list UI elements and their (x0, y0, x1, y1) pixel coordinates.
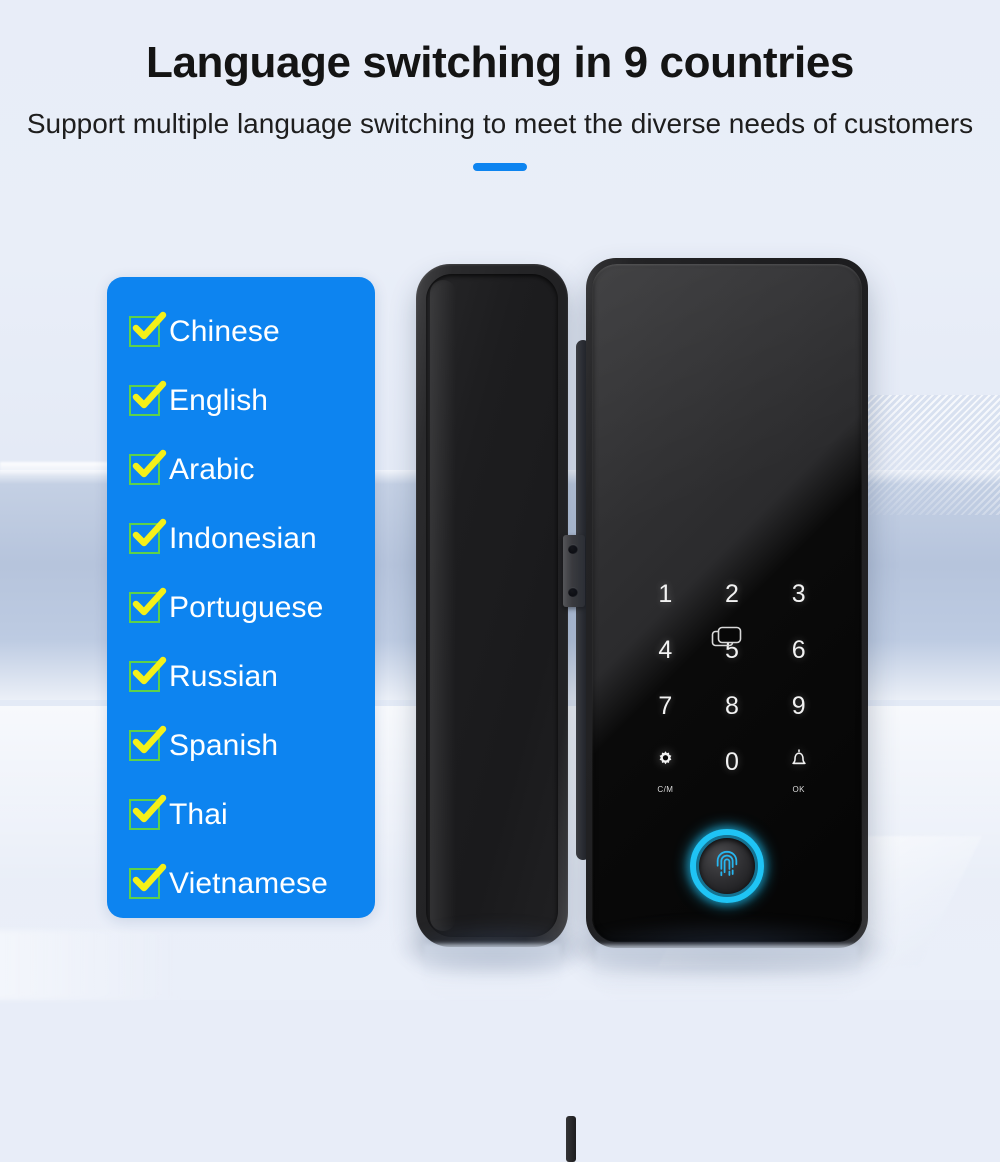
page-subtitle: Support multiple language switching to m… (0, 106, 1000, 143)
lock-back-plate (416, 264, 568, 947)
key-label: 0 (725, 748, 739, 777)
language-label: Portuguese (169, 591, 323, 625)
lock-glass-panel: 1 2 3 4 5 6 7 8 9 C/M (592, 264, 862, 942)
touch-keypad[interactable]: 1 2 3 4 5 6 7 8 9 C/M (632, 566, 832, 790)
hinge-screw-hole (568, 544, 578, 554)
language-label: Vietnamese (169, 867, 328, 901)
language-row[interactable]: Thai (129, 780, 375, 849)
checkbox-checked-icon[interactable] (129, 868, 160, 899)
key-label: 8 (725, 692, 739, 721)
lock-body-reflection (596, 945, 858, 1001)
language-row[interactable]: Vietnamese (129, 849, 375, 918)
hinge-plate (563, 535, 585, 607)
accent-bar-divider (473, 163, 527, 171)
language-row[interactable]: Portuguese (129, 573, 375, 642)
language-row[interactable]: Chinese (129, 297, 375, 366)
checkbox-checked-icon[interactable] (129, 592, 160, 623)
checkbox-checked-icon[interactable] (129, 316, 160, 347)
language-label: Indonesian (169, 522, 317, 556)
keypad-key-0[interactable]: 0 (699, 734, 766, 790)
keypad-key-6[interactable]: 6 (765, 622, 832, 678)
checkbox-checked-icon[interactable] (129, 454, 160, 485)
header-block: Language switching in 9 countries Suppor… (0, 0, 1000, 171)
key-label: 6 (792, 636, 806, 665)
key-label: 1 (658, 580, 672, 609)
checkbox-checked-icon[interactable] (129, 385, 160, 416)
keypad-key-settings[interactable]: C/M (632, 734, 699, 790)
bell-icon (789, 748, 809, 777)
keypad-key-7[interactable]: 7 (632, 678, 699, 734)
key-sublabel: C/M (657, 785, 673, 794)
keypad-key-4[interactable]: 4 (632, 622, 699, 678)
language-label: Russian (169, 660, 278, 694)
language-label: English (169, 384, 268, 418)
keypad-key-9[interactable]: 9 (765, 678, 832, 734)
fingerprint-icon (710, 847, 744, 886)
language-row[interactable]: English (129, 366, 375, 435)
checkbox-checked-icon[interactable] (129, 661, 160, 692)
keypad-key-3[interactable]: 3 (765, 566, 832, 622)
language-row[interactable]: Arabic (129, 435, 375, 504)
back-plate-tab-bottom (566, 1116, 576, 1162)
key-sublabel: OK (792, 785, 804, 794)
fingerprint-sensor[interactable] (685, 824, 769, 908)
language-row[interactable]: Indonesian (129, 504, 375, 573)
language-row[interactable]: Russian (129, 642, 375, 711)
language-list-panel: ChineseEnglishArabicIndonesianPortuguese… (107, 277, 375, 918)
page-title: Language switching in 9 countries (0, 38, 1000, 88)
keypad-key-8[interactable]: 8 (699, 678, 766, 734)
language-label: Thai (169, 798, 228, 832)
checkbox-checked-icon[interactable] (129, 730, 160, 761)
hinge-screw-hole (568, 587, 578, 597)
rfid-card-icon[interactable] (710, 624, 744, 652)
key-label: 9 (792, 692, 806, 721)
keypad-key-1[interactable]: 1 (632, 566, 699, 622)
back-plate-reflection (424, 944, 560, 1000)
key-label: 7 (658, 692, 672, 721)
key-label: 2 (725, 580, 739, 609)
gear-icon (655, 748, 676, 777)
key-label: 4 (658, 636, 672, 665)
checkbox-checked-icon[interactable] (129, 799, 160, 830)
checkbox-checked-icon[interactable] (129, 523, 160, 554)
keypad-key-ok-bell[interactable]: OK (765, 734, 832, 790)
key-label: 3 (792, 580, 806, 609)
language-label: Spanish (169, 729, 278, 763)
keypad-key-2[interactable]: 2 (699, 566, 766, 622)
language-label: Chinese (169, 315, 280, 349)
language-row[interactable]: Spanish (129, 711, 375, 780)
back-plate-highlight (430, 280, 456, 931)
fingerprint-pad[interactable] (699, 838, 755, 894)
language-label: Arabic (169, 453, 255, 487)
lock-main-body: 1 2 3 4 5 6 7 8 9 C/M (586, 258, 868, 948)
